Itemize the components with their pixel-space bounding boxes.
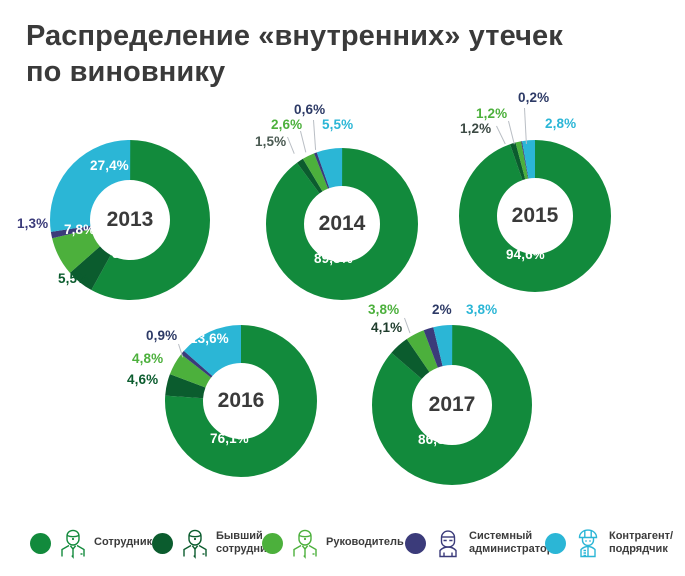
pct-2015-sysadmin: 0,2% xyxy=(518,90,549,105)
contractor-icon xyxy=(573,527,603,559)
pct-2013-contractor: 27,4% xyxy=(90,158,129,173)
donut-2016-svg xyxy=(165,325,317,477)
pct-2014-manager: 2,6% xyxy=(271,117,302,132)
donut-2014-svg xyxy=(266,148,418,300)
legend: Сотрудник Бывший сотрудник xyxy=(0,513,685,573)
legend-item-employee[interactable]: Сотрудник xyxy=(30,521,152,565)
legend-item-sysadmin[interactable]: Системный администратор xyxy=(405,521,553,565)
pct-2013-employee: 58% xyxy=(112,246,139,261)
legend-item-contractor[interactable]: Контрагент/ подрядчик xyxy=(545,521,673,565)
legend-item-manager[interactable]: Руководитель xyxy=(262,521,404,565)
pct-2013-former-employee: 5,5% xyxy=(58,271,89,286)
pct-2017-employee: 86,3% xyxy=(418,432,457,447)
pct-2016-sysadmin: 0,9% xyxy=(146,328,177,343)
pct-2014-sysadmin: 0,6% xyxy=(294,102,325,117)
legend-swatch-manager xyxy=(262,533,283,554)
legend-label-contractor: Контрагент/ подрядчик xyxy=(609,530,673,557)
employee-icon xyxy=(58,527,88,559)
legend-label-sysadmin: Системный администратор xyxy=(469,530,553,557)
manager-icon xyxy=(290,527,320,559)
legend-swatch-employee xyxy=(30,533,51,554)
pct-2016-employee: 76,1% xyxy=(210,431,249,446)
pct-2016-contractor: 13,6% xyxy=(190,331,229,346)
former-employee-icon xyxy=(180,527,210,559)
leader-line-2015-c xyxy=(524,108,527,144)
donut-chart-2017: 2017 xyxy=(372,325,532,485)
pct-2017-sysadmin: 2% xyxy=(432,302,452,317)
pct-2015-former-employee: 1,2% xyxy=(460,121,491,136)
donut-chart-2016: 2016 xyxy=(165,325,317,477)
pct-2015-contractor: 2,8% xyxy=(545,116,576,131)
pct-2013-manager: 7,8% xyxy=(64,222,95,237)
pct-2014-contractor: 5,5% xyxy=(322,117,353,132)
donut-chart-2015: 2015 xyxy=(459,140,611,292)
pct-2015-employee: 94,6% xyxy=(506,247,545,262)
pct-2014-employee: 89,8% xyxy=(314,251,353,266)
pct-2013-sysadmin: 1,3% xyxy=(17,216,48,231)
legend-item-former-employee[interactable]: Бывший сотрудник xyxy=(152,521,272,565)
pct-2017-former-employee: 4,1% xyxy=(371,320,402,335)
pct-2017-manager: 3,8% xyxy=(368,302,399,317)
legend-label-employee: Сотрудник xyxy=(94,536,152,549)
donut-2017-svg xyxy=(372,325,532,485)
pct-2015-manager: 1,2% xyxy=(476,106,507,121)
legend-swatch-former-employee xyxy=(152,533,173,554)
donut-chart-2014: 2014 xyxy=(266,148,418,300)
pct-2017-contractor: 3,8% xyxy=(466,302,497,317)
legend-swatch-contractor xyxy=(545,533,566,554)
legend-swatch-sysadmin xyxy=(405,533,426,554)
legend-label-manager: Руководитель xyxy=(326,536,404,549)
pct-2016-manager: 4,8% xyxy=(132,351,163,366)
sysadmin-icon xyxy=(433,527,463,559)
pct-2016-former-employee: 4,6% xyxy=(127,372,158,387)
leader-line-2014-c xyxy=(313,120,316,150)
pct-2014-former-employee: 1,5% xyxy=(255,134,286,149)
page-title: Распределение «внутренних» утечек по вин… xyxy=(26,18,586,91)
donut-2015-svg xyxy=(459,140,611,292)
